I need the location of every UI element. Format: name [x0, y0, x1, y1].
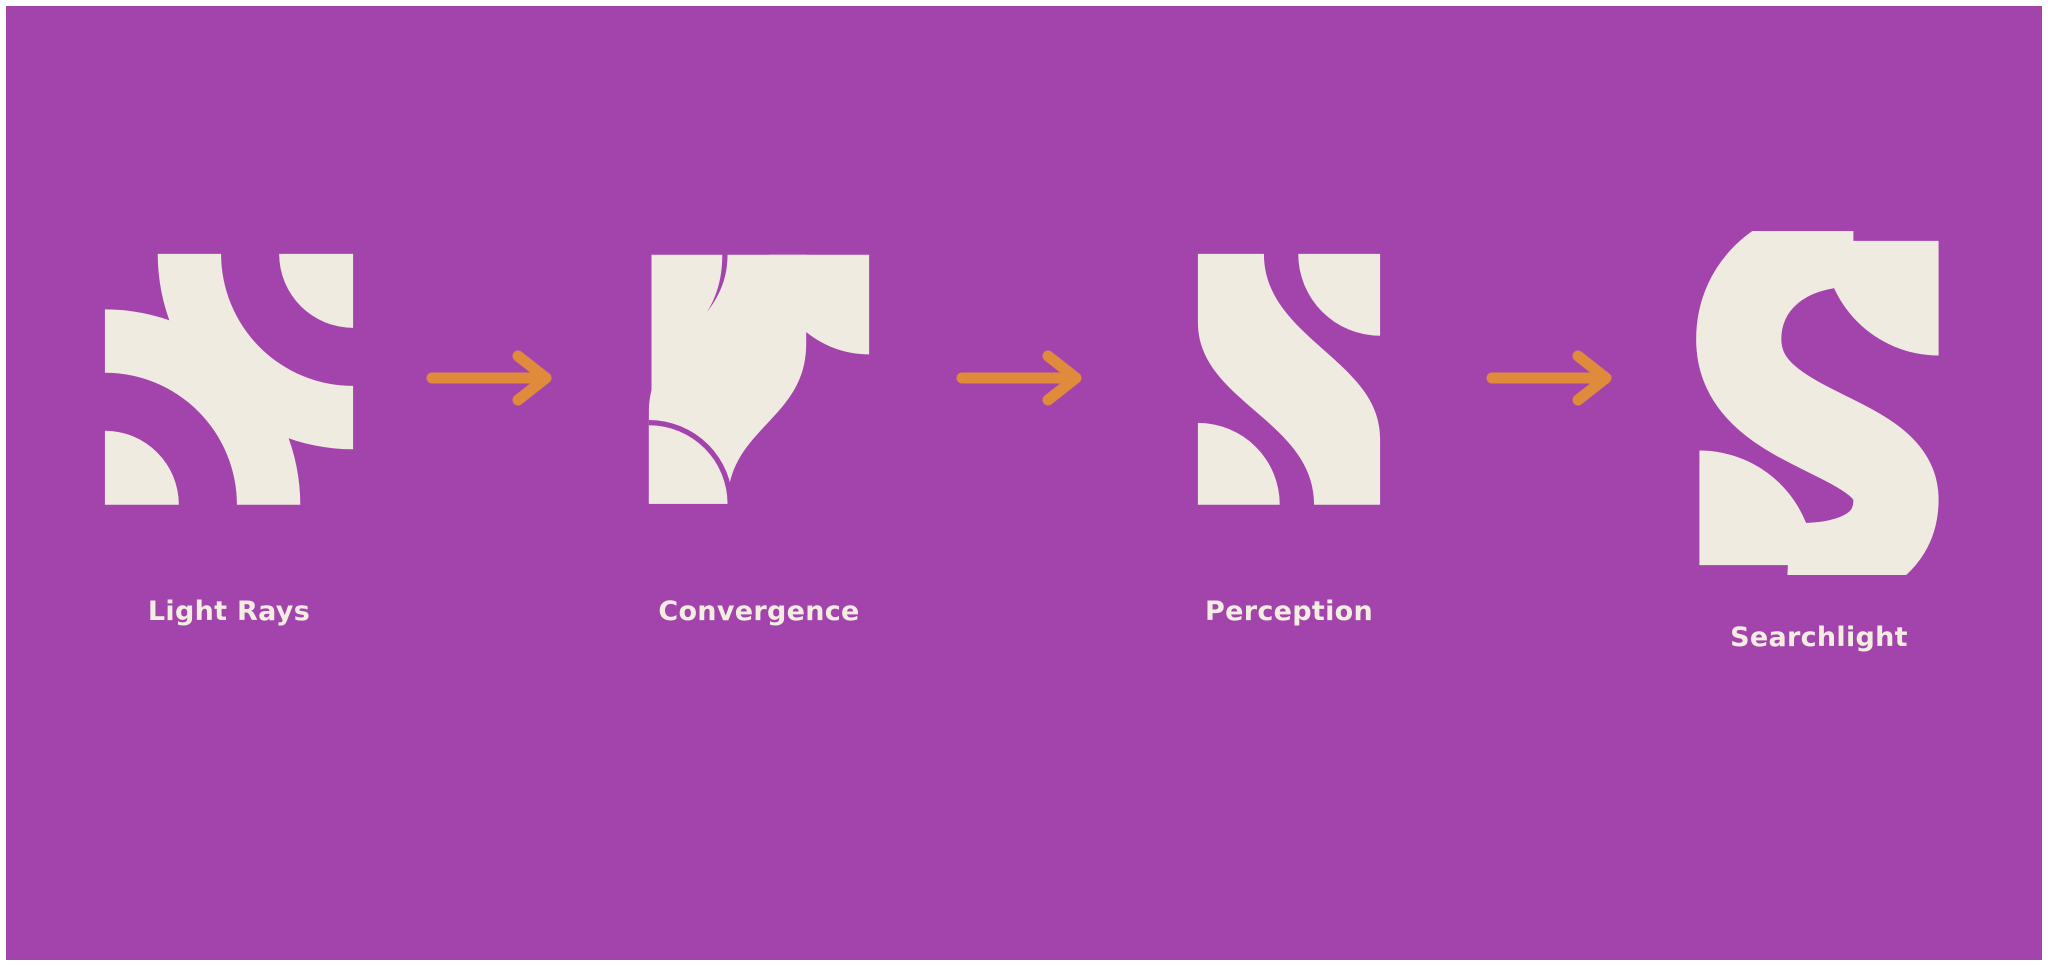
perception-mark-container: [1154, 228, 1424, 528]
arrow-right-icon: [426, 348, 562, 408]
stage-light-rays[interactable]: Light Rays: [64, 228, 394, 627]
stage-label-light-rays: Light Rays: [148, 596, 310, 627]
searchlight-mark-container: [1694, 228, 1944, 578]
searchlight-shapes: [1699, 238, 1941, 569]
arrow-right-icon: [1486, 348, 1622, 408]
stage-perception[interactable]: Perception: [1124, 228, 1454, 627]
stage-label-searchlight: Searchlight: [1730, 622, 1908, 653]
purple-panel: Light Rays: [6, 6, 2042, 960]
stage-label-convergence: Convergence: [658, 596, 859, 627]
convergence-mark-container: [624, 228, 894, 528]
light-rays-mark-container: [94, 228, 364, 528]
stage-searchlight[interactable]: Searchlight: [1654, 228, 1984, 653]
convergence-mark: [641, 246, 877, 510]
logo-evolution-canvas: Light Rays: [0, 0, 2048, 966]
perception-shapes: [1198, 254, 1380, 505]
evolution-flow-row: Light Rays: [6, 228, 2042, 708]
connector-arrow-1: [394, 228, 594, 528]
light-rays-mark: [97, 246, 361, 510]
searchlight-mark: [1696, 231, 1942, 575]
perception-mark: [1189, 246, 1389, 510]
arrow-right-icon: [956, 348, 1092, 408]
stage-label-perception: Perception: [1205, 596, 1373, 627]
connector-arrow-3: [1454, 228, 1654, 528]
connector-arrow-2: [924, 228, 1124, 528]
stage-convergence[interactable]: Convergence: [594, 228, 924, 627]
light-rays-shapes: [105, 254, 353, 505]
